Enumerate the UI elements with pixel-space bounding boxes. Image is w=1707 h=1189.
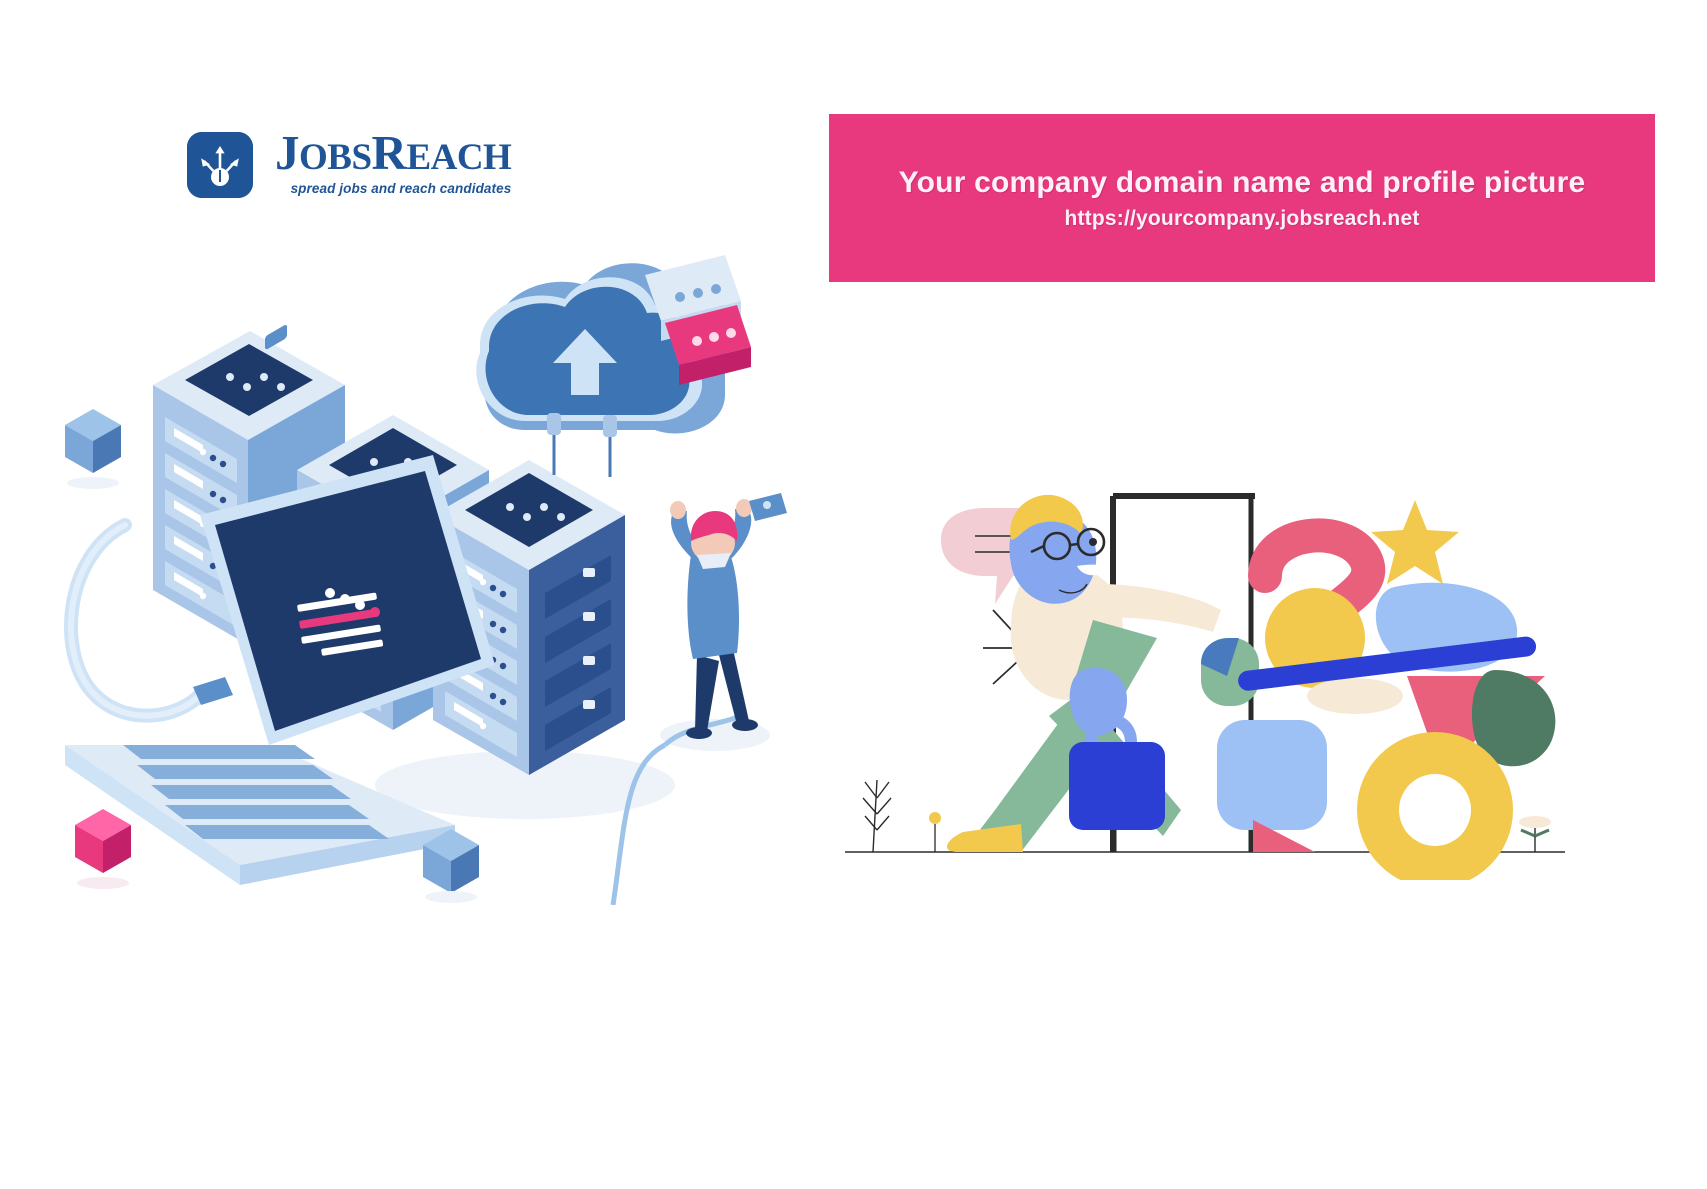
brand-wordmark-obs: OBS — [299, 137, 372, 178]
bud-shape — [929, 812, 941, 824]
abstract-shape-cluster — [1201, 500, 1555, 880]
arrows-spread-icon-svg — [187, 132, 253, 198]
banner-title: Your company domain name and profile pic… — [899, 166, 1586, 199]
isometric-cloud-servers-illustration — [25, 225, 825, 905]
brand-wordmark: JOBSREACH — [275, 128, 511, 177]
brand-logo-text: JOBSREACH spread jobs and reach candidat… — [275, 128, 511, 196]
cube-pink — [75, 809, 131, 889]
banner-url[interactable]: https://yourcompany.jobsreach.net — [1064, 207, 1419, 231]
isometric-servers-svg — [25, 225, 825, 905]
brand-wordmark-r: R — [372, 125, 407, 180]
arrows-spread-icon — [187, 132, 253, 198]
plant-sprig — [863, 780, 891, 852]
sprout-icon — [1519, 816, 1551, 852]
character-eye — [1089, 538, 1097, 546]
brand-tagline: spread jobs and reach candidates — [275, 181, 511, 196]
company-domain-banner: Your company domain name and profile pic… — [829, 114, 1655, 282]
donut-hole — [1399, 774, 1471, 846]
job-seeker-svg — [845, 480, 1565, 880]
job-seeker-flat-illustration — [845, 480, 1565, 880]
page-root: JOBSREACH spread jobs and reach candidat… — [0, 0, 1707, 1189]
technician-person — [670, 493, 787, 739]
brand-wordmark-each: EACH — [406, 137, 511, 178]
brand-wordmark-j: J — [275, 125, 299, 180]
laptop — [65, 455, 495, 885]
rounded-square-blue — [1217, 720, 1327, 830]
brand-logo[interactable]: JOBSREACH spread jobs and reach candidat… — [187, 128, 511, 198]
pill-shape-beige — [1307, 678, 1403, 714]
briefcase-body — [1069, 742, 1165, 830]
cube-blue-top — [65, 409, 121, 489]
